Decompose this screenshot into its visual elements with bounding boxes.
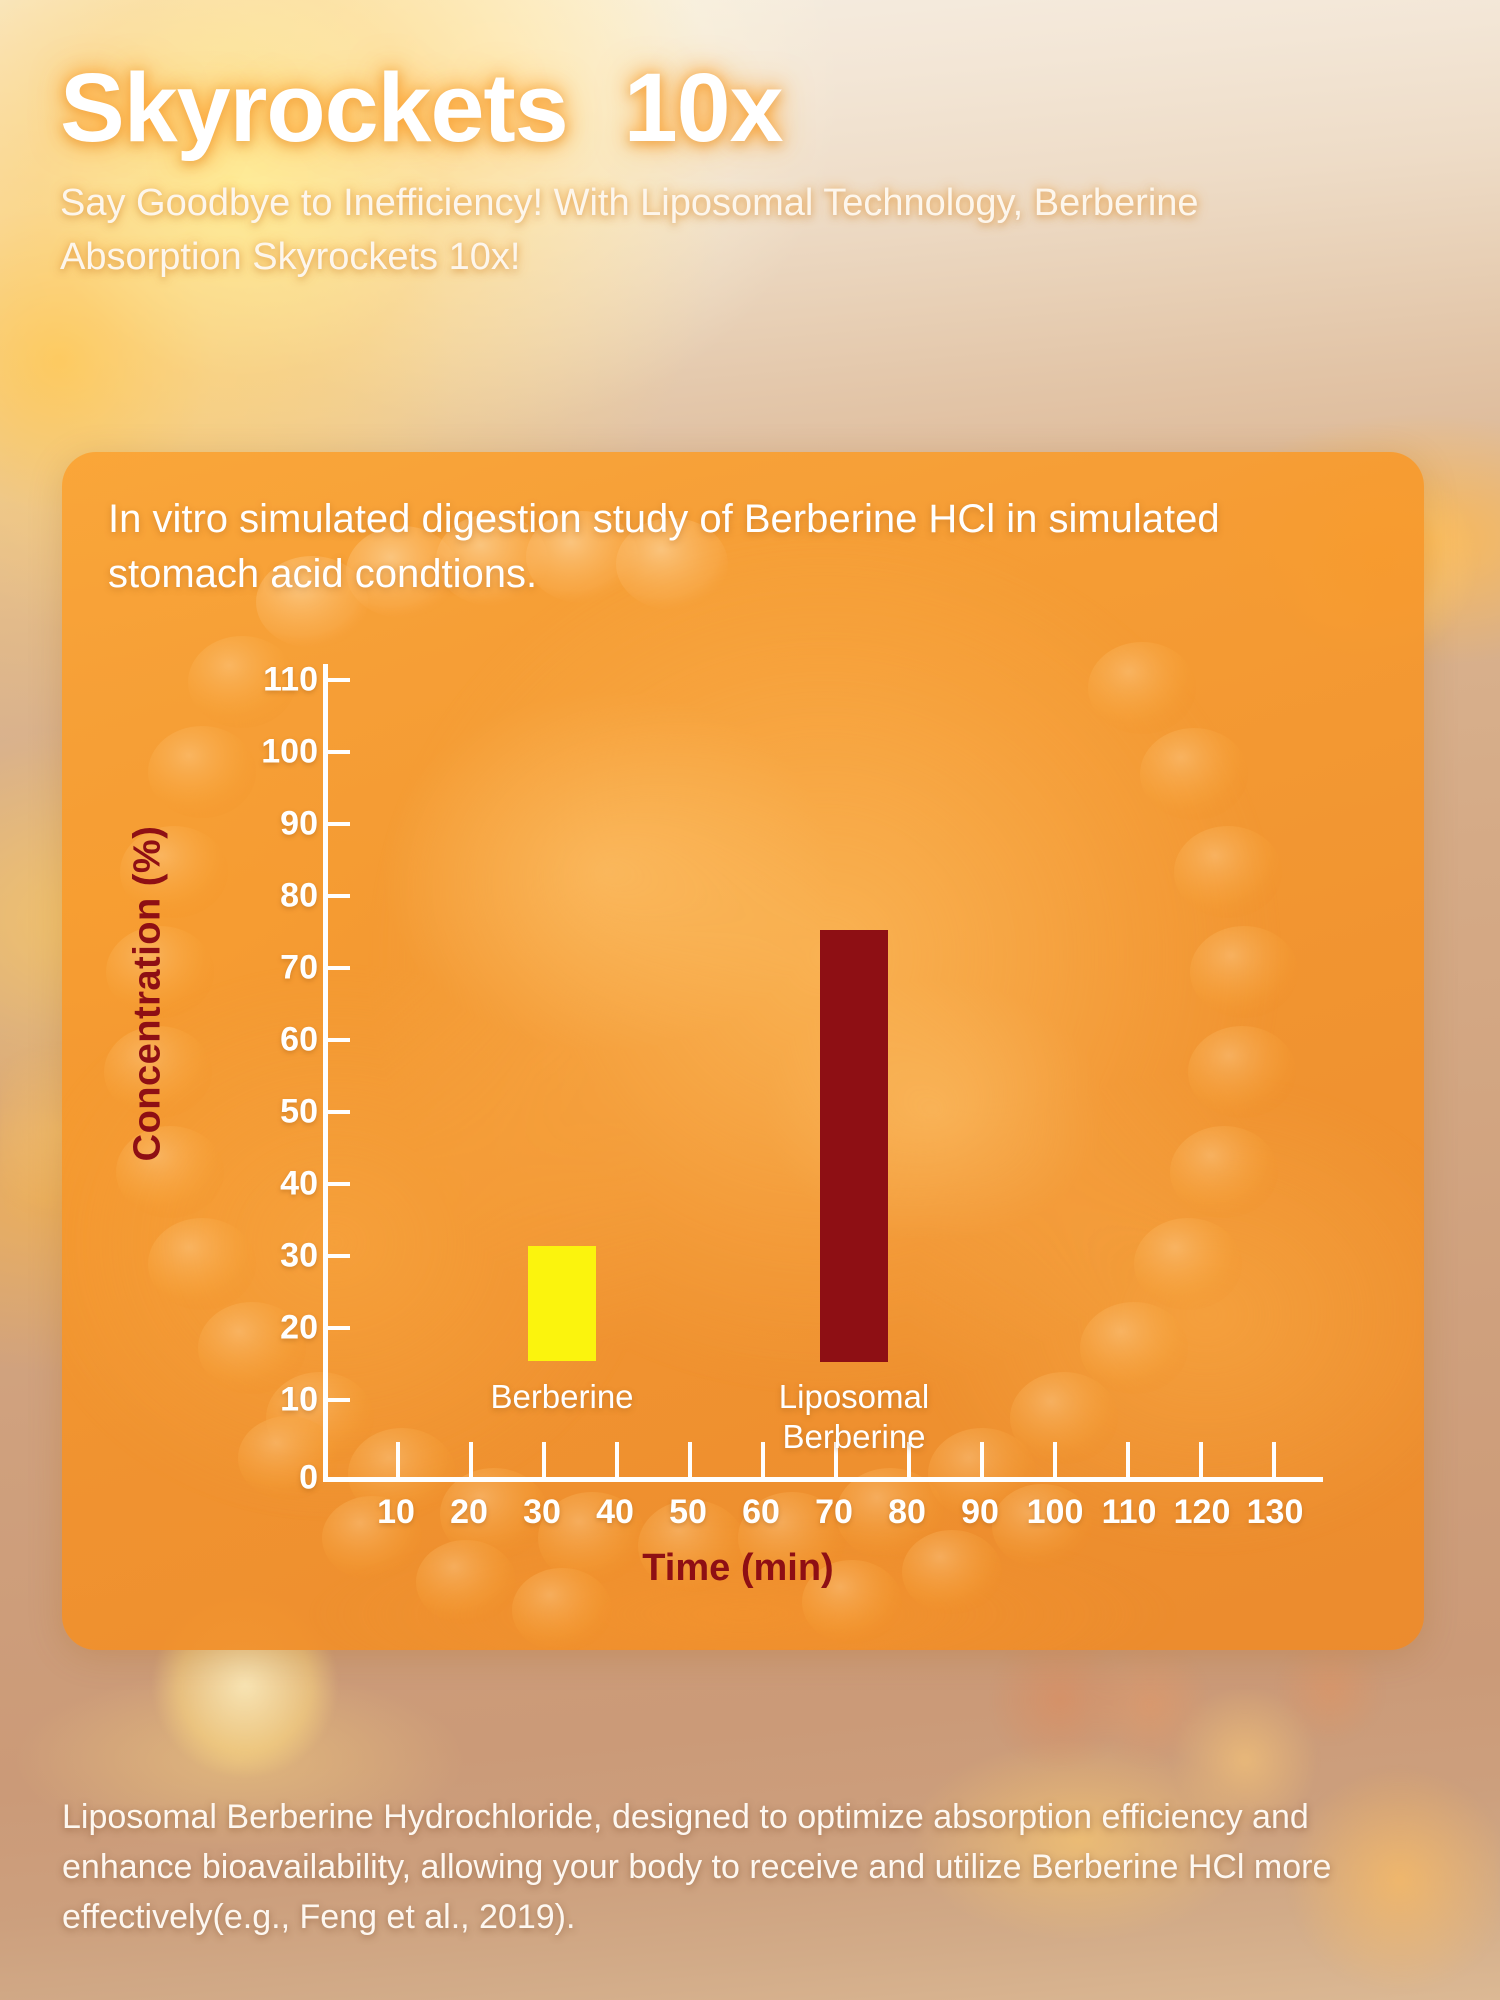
x-tick-50	[688, 1442, 692, 1477]
y-tick-10	[328, 1398, 350, 1402]
y-tick-110	[328, 678, 350, 682]
y-tick-label-110: 110	[208, 661, 318, 700]
bar-liposomal-berberine	[820, 930, 888, 1362]
x-axis-title: Time (min)	[538, 1547, 938, 1590]
y-axis-line	[323, 664, 328, 1477]
title-multiplier: 10x	[624, 53, 783, 162]
chart-panel: In vitro simulated digestion study of Be…	[62, 452, 1424, 1650]
x-tick-label-130: 130	[1230, 1493, 1320, 1532]
bar-label-berberine: Berberine	[402, 1377, 722, 1417]
chart-heading: In vitro simulated digestion study of Be…	[108, 492, 1378, 602]
bar-label-liposomal-line1: Liposomal	[779, 1378, 929, 1415]
bar-label-liposomal-line2: Berberine	[782, 1418, 925, 1455]
y-tick-60	[328, 1038, 350, 1042]
x-tick-110	[1126, 1442, 1130, 1477]
x-tick-40	[615, 1442, 619, 1477]
y-tick-90	[328, 822, 350, 826]
y-tick-label-40: 40	[208, 1165, 318, 1204]
y-tick-label-20: 20	[208, 1309, 318, 1348]
y-tick-40	[328, 1182, 350, 1186]
x-tick-10	[396, 1442, 400, 1477]
page-title: Skyrockets10x	[60, 58, 1380, 159]
y-tick-label-50: 50	[208, 1093, 318, 1132]
y-tick-80	[328, 894, 350, 898]
bar-berberine	[528, 1246, 596, 1361]
y-tick-50	[328, 1110, 350, 1114]
y-tick-30	[328, 1254, 350, 1258]
page-subtitle: Say Goodbye to Inefficiency! With Liposo…	[60, 177, 1220, 285]
y-tick-label-70: 70	[208, 949, 318, 988]
x-tick-120	[1199, 1442, 1203, 1477]
header: Skyrockets10x Say Goodbye to Inefficienc…	[60, 58, 1380, 285]
x-tick-130	[1272, 1442, 1276, 1477]
bar-chart-plot: 110 100 90 80 70 60 50 40 30 20 10 0 10 …	[108, 642, 1383, 1602]
y-tick-label-10: 10	[208, 1381, 318, 1420]
footer-description: Liposomal Berberine Hydrochloride, desig…	[62, 1793, 1447, 1943]
y-tick-label-30: 30	[208, 1237, 318, 1276]
y-tick-label-80: 80	[208, 877, 318, 916]
y-tick-label-60: 60	[208, 1021, 318, 1060]
y-tick-label-90: 90	[208, 805, 318, 844]
y-tick-label-100: 100	[208, 733, 318, 772]
y-tick-100	[328, 750, 350, 754]
y-tick-label-0: 0	[208, 1459, 318, 1498]
x-axis-line	[323, 1477, 1323, 1482]
x-tick-20	[469, 1442, 473, 1477]
x-tick-30	[542, 1442, 546, 1477]
y-tick-20	[328, 1326, 350, 1330]
bar-label-liposomal-berberine: Liposomal Berberine	[694, 1377, 1014, 1456]
title-main-word: Skyrockets	[60, 53, 568, 162]
y-axis-title: Concentration (%)	[127, 724, 170, 1264]
x-tick-100	[1053, 1442, 1057, 1477]
y-tick-70	[328, 966, 350, 970]
